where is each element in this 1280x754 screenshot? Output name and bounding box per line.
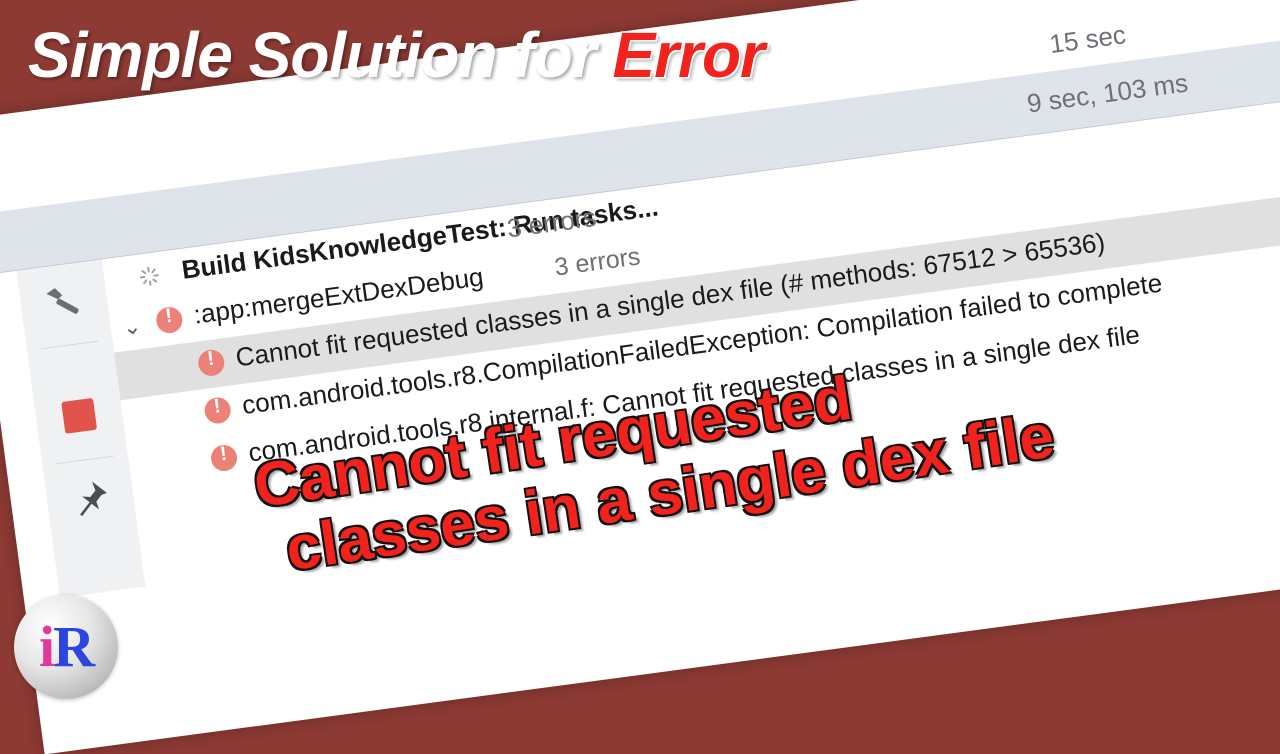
hammer-icon[interactable] — [19, 275, 111, 337]
error-icon — [203, 396, 232, 425]
toolbar-divider — [41, 341, 99, 350]
pin-icon[interactable] — [45, 472, 137, 532]
error-icon — [209, 443, 238, 472]
page-title: Simple Solution for Error — [28, 18, 764, 92]
logo-letter-i: i — [39, 614, 53, 679]
stop-icon[interactable] — [61, 398, 97, 434]
build-error-count: 3 errors — [505, 202, 598, 245]
toolbar-divider — [56, 456, 114, 465]
page-title-prefix: Simple Solution for — [28, 19, 612, 91]
logo-monogram: iR — [14, 595, 118, 699]
duration-total: 15 sec — [1048, 19, 1128, 60]
page-title-highlight: Error — [612, 19, 764, 91]
ide-screenshot-card: Build: Sync × Build Output × 15 sec 9 se… — [0, 0, 1280, 754]
chevron-down-icon[interactable]: ⌄ — [121, 313, 143, 341]
channel-logo: iR — [14, 595, 118, 699]
logo-letter-r: R — [53, 614, 93, 679]
error-icon — [197, 348, 226, 377]
error-icon — [155, 305, 184, 334]
list-item-meta: 3 errors — [553, 242, 642, 282]
loading-spinner-icon — [137, 264, 162, 289]
